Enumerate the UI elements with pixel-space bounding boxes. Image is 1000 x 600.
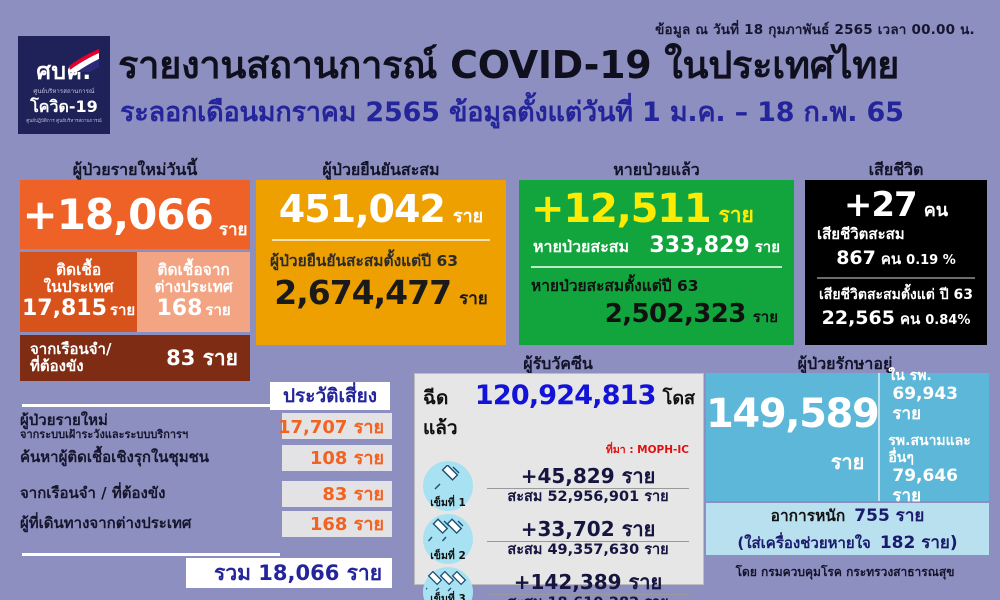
infographic-root: ข้อมูล ณ วันที่ 18 กุมภาพันธ์ 2565 เวลา … [0, 0, 1000, 600]
recovered-since-unit: ราย [753, 305, 778, 329]
prison-value: 83 ราย [166, 342, 238, 375]
vaccine-source: ที่มา : MOPH-IC [423, 441, 689, 458]
dose-1-cumulative: สะสม 52,956,901 ราย [481, 490, 695, 506]
cumulative-since-label: ผู้ป่วยยืนยันสะสมตั้งแต่ปี 63 [268, 248, 494, 273]
cumulative-since-unit: ราย [459, 285, 488, 312]
card-new-cases: +18,066 ราย ติดเชื้อ ในประเทศ 17,815 ราย… [20, 180, 250, 384]
dose-2-new: +33,702 ราย [481, 519, 695, 541]
severe-label: อาการหนัก [771, 503, 846, 528]
dose-2-cumulative: สะสม 49,357,630 ราย [481, 543, 695, 559]
logo-subtitle-1: ศูนย์บริหารสถานการณ์ [33, 86, 94, 96]
cumulative-unit: ราย [453, 201, 483, 230]
dose-label: เข็มที่ 3 [430, 594, 466, 600]
deaths-value: +27 [844, 188, 917, 224]
risk-label: ผู้ที่เดินทางจากต่างประเทศ [20, 515, 191, 532]
recovered-cum-label: หายป่วยสะสม [533, 235, 629, 260]
risk-history-list: ผู้ป่วยรายใหม่ จากระบบเฝ้าระวังและระบบบร… [14, 412, 392, 541]
footer-credit: โดย กรมควบคุมโรค กระทรวงสาธารณสุข [700, 563, 990, 582]
treating-unit: ราย [831, 446, 879, 478]
imported-value: 168 [156, 298, 202, 320]
deaths-cum-unit: คน [881, 247, 901, 271]
treating-total: 149,589 ราย [706, 373, 880, 501]
recovered-since-value: 2,502,323 [605, 299, 746, 329]
risk-row: ค้นหาผู้ติดเชื้อเชิงรุกในชุมชน 108 ราย [14, 445, 392, 471]
domestic-cases: ติดเชื้อ ในประเทศ 17,815 ราย [20, 252, 137, 332]
logo-subtitle-2: ศูนย์ปฏิบัติการ ศูนย์บริหารสถานการณ์ [26, 118, 102, 125]
imported-unit: ราย [205, 298, 230, 322]
treating-breakdown: ใน รพ. 69,943 ราย รพ.สนามและอื่นๆ 79,646… [880, 373, 989, 501]
imported-label-1: ติดเชื้อจาก [157, 262, 229, 279]
card-vaccination: ฉีดแล้ว 120,924,813 โดส ที่มา : MOPH-IC … [414, 373, 704, 585]
risk-value: 108 ราย [310, 443, 384, 472]
treating-value: 149,589 [706, 394, 878, 434]
risk-divider-top [22, 404, 390, 407]
risk-total-box: รวม 18,066 ราย [186, 558, 392, 588]
cumulative-since-value: 2,674,477 [274, 276, 451, 309]
recovered-cum-unit: ราย [755, 238, 780, 256]
vaccine-dose-row-1: เข็มที่ 1 +45,829 ราย สะสม 52,956,901 รา… [423, 461, 695, 511]
recovered-cum-value: 333,829 [649, 233, 749, 258]
risk-row: จากเรือนจำ / ที่ต้องขัง 83 ราย [14, 481, 392, 507]
risk-total-value: รวม 18,066 ราย [214, 557, 382, 590]
imported-label-2: ต่างประเทศ [155, 279, 233, 296]
recovered-unit: ราย [718, 199, 753, 232]
card-recovered: +12,511 ราย หายป่วยสะสม 333,829 ราย หายป… [519, 180, 794, 345]
prison-label-1: จากเรือนจำ/ [30, 341, 111, 358]
imported-cases: ติดเชื้อจาก ต่างประเทศ 168 ราย [137, 252, 250, 332]
card-deaths: +27 คน เสียชีวิตสะสม 867 คน 0.19 % เสียช… [805, 180, 987, 345]
dose-label: เข็มที่ 2 [430, 551, 466, 562]
risk-label: ค้นหาผู้ติดเชื้อเชิงรุกในชุมชน [20, 449, 209, 466]
severe-value: 755 ราย [854, 502, 924, 529]
syringe-3-icon: เข็มที่ 3 ขึ้นไป [423, 567, 473, 600]
syringe-2-icon: เข็มที่ 2 [423, 514, 473, 564]
vaccine-dose-row-2: เข็มที่ 2 +33,702 ราย สะสม 49,357,630 รา… [423, 514, 695, 564]
ventilator-value: 182 ราย) [880, 529, 958, 556]
page-title: รายงานสถานการณ์ COVID-19 ในประเทศไทย [118, 44, 998, 87]
domestic-value: 17,815 [22, 298, 107, 320]
divider [531, 266, 782, 268]
recovered-since-label: หายป่วยสะสมตั้งแต่ปี 63 [529, 273, 784, 298]
dose-label: เข็มที่ 1 [430, 498, 466, 509]
deaths-unit: คน [924, 195, 948, 224]
dose-3-cumulative: สะสม 18,610,282 ราย [481, 596, 695, 600]
risk-sublabel: จากระบบเฝ้าระวังและระบบบริการฯ [20, 429, 188, 441]
cumulative-value: 451,042 [279, 190, 445, 230]
vaccine-head-label: ฉีดแล้ว [423, 383, 468, 443]
divider [817, 277, 975, 279]
risk-value: 17,707 ราย [278, 412, 384, 441]
risk-value: 168 ราย [310, 509, 384, 538]
new-cases-breakdown: ติดเชื้อ ในประเทศ 17,815 ราย ติดเชื้อจาก… [20, 252, 250, 332]
deaths-cum-label: เสียชีวิตสะสม [815, 222, 977, 246]
card-under-treatment: 149,589 ราย ใน รพ. 69,943 ราย รพ.สนามและ… [706, 373, 989, 501]
syringe-icon [431, 465, 465, 491]
card-cumulative-confirmed: 451,042 ราย ผู้ป่วยยืนยันสะสมตั้งแต่ปี 6… [256, 180, 506, 345]
syringe-1-icon: เข็มที่ 1 [423, 461, 473, 511]
syringe-icon [426, 571, 470, 595]
deaths-cum-pct: 0.19 % [906, 253, 956, 268]
dose-1-new: +45,829 ราย [481, 466, 695, 488]
prison-label-2: ที่ต้องขัง [30, 358, 111, 375]
in-hospital-value: 69,943 ราย [888, 384, 983, 425]
deaths-since-label: เสียชีวิตสะสมตั้งแต่ ปี 63 [815, 284, 977, 306]
in-hospital-label: ใน รพ. [888, 368, 983, 384]
prison-cases: จากเรือนจำ/ ที่ต้องขัง 83 ราย [20, 332, 250, 381]
logo-covid-text: โควิด-19 [30, 99, 98, 115]
deaths-since-value: 22,565 [822, 307, 895, 329]
data-timestamp: ข้อมูล ณ วันที่ 18 กุมภาพันธ์ 2565 เวลา … [640, 18, 990, 40]
ventilator-label: (ใส่เครื่องช่วยหายใจ [737, 531, 871, 555]
domestic-unit: ราย [110, 298, 135, 322]
card-severe-cases: อาการหนัก 755 ราย (ใส่เครื่องช่วยหายใจ 1… [706, 503, 989, 555]
vaccine-dose-row-3: เข็มที่ 3 ขึ้นไป +142,389 ราย สะสม 18,61… [423, 567, 695, 600]
deaths-since-pct: 0.84% [925, 313, 970, 328]
risk-label: ผู้ป่วยรายใหม่ [20, 412, 188, 429]
risk-row: ผู้ที่เดินทางจากต่างประเทศ 168 ราย [14, 511, 392, 537]
recovered-value: +12,511 [531, 188, 710, 230]
risk-value: 83 ราย [322, 479, 384, 508]
domestic-label-2: ในประเทศ [44, 279, 114, 296]
field-hospital-label: รพ.สนามและอื่นๆ [888, 433, 983, 465]
thai-flag-ribbon [67, 46, 101, 72]
divider [272, 239, 490, 241]
domestic-label-1: ติดเชื้อ [56, 262, 101, 279]
vaccine-total-doses: 120,924,813 [475, 380, 656, 411]
page-subtitle: ระลอกเดือนมกราคม 2565 ข้อมูลตั้งแต่วันที… [120, 98, 1000, 128]
new-cases-unit: ราย [219, 216, 248, 249]
cccsa-logo: ศบค. ศูนย์บริหารสถานการณ์ โควิด-19 ศูนย์… [18, 36, 110, 134]
vaccine-dose-unit: โดส [663, 383, 695, 412]
risk-row: ผู้ป่วยรายใหม่ จากระบบเฝ้าระวังและระบบบร… [14, 412, 392, 441]
deaths-cum-value: 867 [836, 247, 876, 269]
risk-label: จากเรือนจำ / ที่ต้องขัง [20, 485, 165, 502]
new-cases-headline: +18,066 ราย [20, 180, 250, 252]
dose-3-new: +142,389 ราย [481, 572, 695, 594]
field-hospital-value: 79,646 ราย [888, 466, 983, 507]
new-cases-value: +18,066 [23, 194, 213, 236]
syringe-icon [428, 518, 468, 544]
deaths-since-unit: คน [900, 307, 920, 331]
